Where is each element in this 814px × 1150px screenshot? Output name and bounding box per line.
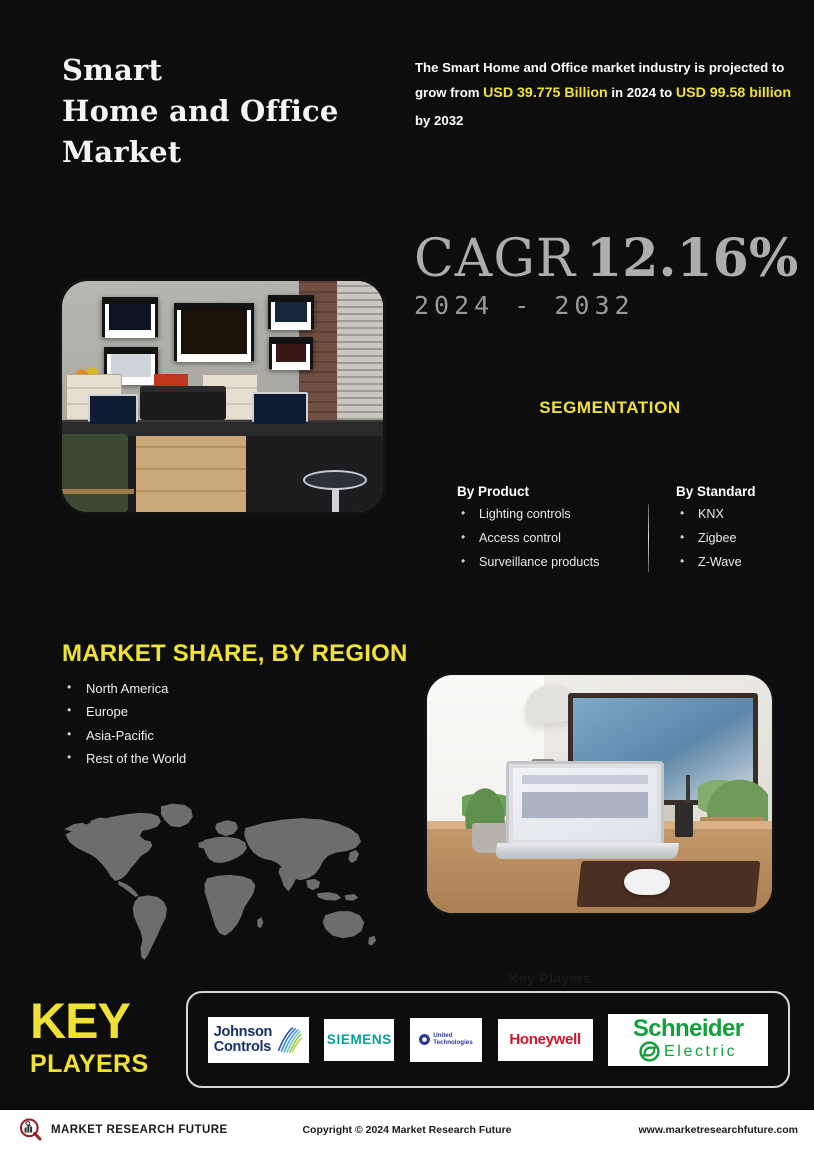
schneider-electric-lockup: Electric [639, 1041, 737, 1062]
footer: MARKET RESEARCH FUTURE Copyright © 2024 … [0, 1110, 814, 1150]
logo-honeywell: Honeywell [498, 1019, 593, 1061]
segmentation-list-standard: KNX Zigbee Z-Wave [676, 508, 806, 580]
laptop-screen [513, 768, 657, 840]
desk-drawers [136, 436, 246, 512]
list-item: Zigbee [676, 532, 806, 556]
intro-value-2032: USD 99.58 billion [676, 85, 791, 101]
intro-suffix: by 2032 [415, 113, 463, 128]
segmentation-title: SEGMENTATION [414, 398, 806, 418]
list-item: Surveillance products [457, 556, 647, 580]
schneider-wordmark: Schneider [633, 1017, 744, 1041]
list-item: KNX [676, 508, 806, 532]
honeywell-wordmark: Honeywell [509, 1031, 581, 1048]
intro-middle: in 2024 to [608, 85, 676, 100]
segmentation-heading-standard: By Standard [676, 484, 806, 499]
intro-paragraph: The Smart Home and Office market industr… [415, 55, 807, 133]
picture-frame [268, 295, 314, 329]
ghost-caption: Key Players [400, 970, 700, 986]
segmentation-divider [648, 504, 649, 572]
logo-siemens: SIEMENS [324, 1019, 394, 1061]
chair-armrest [62, 489, 134, 494]
page-title: Smart Home and Office Market [62, 50, 392, 174]
key-players-label-top: KEY [30, 997, 175, 1045]
logo-line-1: Johnson [214, 1025, 272, 1040]
world-map [62, 796, 392, 971]
logo-line-2: Technologies [433, 1040, 472, 1047]
list-item: North America [62, 682, 186, 705]
market-share-region-list: North America Europe Asia-Pacific Rest o… [62, 682, 186, 775]
list-item: Europe [62, 705, 186, 728]
segmentation-list-product: Lighting controls Access control Surveil… [457, 508, 647, 580]
cagr-block: CAGR12.16% 2024 - 2032 [414, 228, 814, 320]
stool [303, 470, 367, 490]
picture-frame [174, 303, 254, 361]
segmentation-column-product: By Product Lighting controls Access cont… [457, 484, 647, 580]
united-technologies-circle-icon [419, 1034, 430, 1045]
schneider-lifeison-icon [639, 1041, 660, 1062]
picture-frame [102, 297, 158, 337]
key-players-label-bottom: PLAYERS [30, 1050, 175, 1079]
united-technologies-wordmark: United Technologies [433, 1033, 472, 1047]
office-chair [62, 434, 128, 512]
footer-url[interactable]: www.marketresearchfuture.com [638, 1124, 798, 1136]
list-item: Asia-Pacific [62, 729, 186, 752]
home-office-photo [62, 281, 383, 512]
key-players-label: KEY PLAYERS [30, 997, 175, 1079]
logo-line-2: Controls [214, 1040, 272, 1055]
list-item: Access control [457, 532, 647, 556]
picture-frame [269, 337, 313, 369]
list-item: Rest of the World [62, 752, 186, 775]
laptop [88, 394, 138, 422]
laptop-keyboard [495, 843, 679, 859]
johnson-controls-wordmark: Johnson Controls [214, 1025, 272, 1055]
mouse [624, 869, 670, 895]
printer [140, 386, 226, 420]
laptop [506, 761, 664, 847]
market-share-title: MARKET SHARE, BY REGION [62, 640, 408, 668]
key-players-box: Johnson Controls SIEMENS United Technolo… [186, 991, 790, 1088]
list-item: Lighting controls [457, 508, 647, 532]
cagr-headline: CAGR12.16% [414, 228, 814, 289]
list-item: Z-Wave [676, 556, 806, 580]
desk [62, 420, 383, 512]
desk-setup-photo [427, 675, 772, 913]
intro-value-2024: USD 39.775 Billion [483, 85, 608, 101]
cagr-label: CAGR [414, 229, 576, 289]
segmentation-column-standard: By Standard KNX Zigbee Z-Wave [676, 484, 806, 580]
cagr-period: 2024 - 2032 [414, 291, 814, 320]
logo-johnson-controls: Johnson Controls [208, 1017, 309, 1063]
pen [686, 775, 690, 805]
laptop [252, 392, 308, 422]
logo-schneider-electric: Schneider Electric [608, 1014, 768, 1066]
siemens-wordmark: SIEMENS [327, 1032, 392, 1047]
cagr-value: 12.16% [586, 228, 798, 289]
united-technologies-lockup: United Technologies [419, 1033, 472, 1047]
segmentation-heading-product: By Product [457, 484, 647, 499]
pen-holder [675, 803, 693, 837]
johnson-controls-globe-icon [275, 1025, 303, 1055]
logo-united-technologies: United Technologies [410, 1018, 482, 1062]
electric-wordmark: Electric [664, 1044, 737, 1060]
